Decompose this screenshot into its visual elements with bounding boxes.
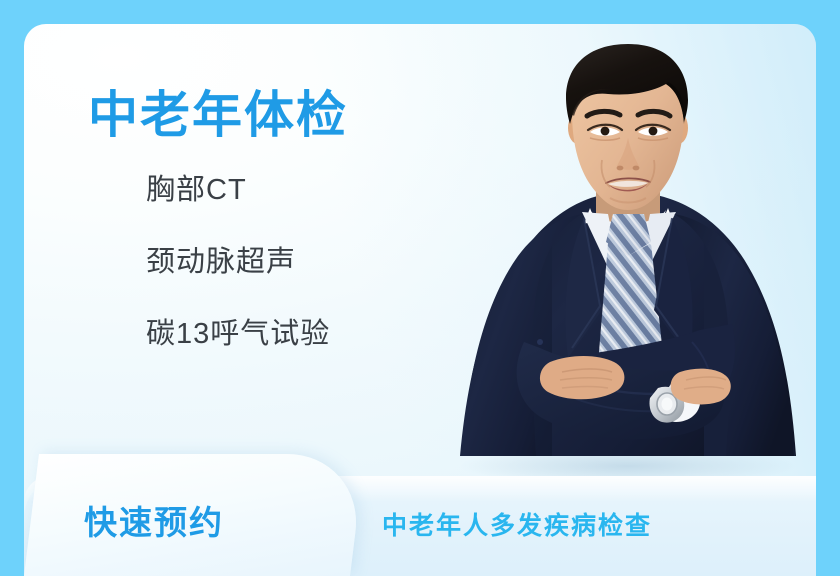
feature-list: 胸部CT 颈动脉超声 碳13呼气试验 (88, 175, 348, 351)
list-item: 颈动脉超声 (146, 247, 348, 279)
poster-card: 中老年体检 胸部CT 颈动脉超声 碳13呼气试验 快速预约 中老年人多发疾病检查 (24, 24, 816, 576)
copy-block: 中老年体检 胸部CT 颈动脉超声 碳13呼气试验 (88, 86, 348, 351)
portrait-photo (432, 42, 816, 480)
poster-root: 中老年体检 胸部CT 颈动脉超声 碳13呼气试验 快速预约 中老年人多发疾病检查 (0, 0, 840, 576)
page-title: 中老年体检 (88, 86, 348, 145)
list-item: 胸部CT (146, 175, 348, 207)
quick-booking-button[interactable]: 快速预约 (84, 496, 224, 544)
list-item: 碳13呼气试验 (146, 319, 348, 351)
footer-tagline: 中老年人多发疾病检查 (382, 506, 652, 542)
